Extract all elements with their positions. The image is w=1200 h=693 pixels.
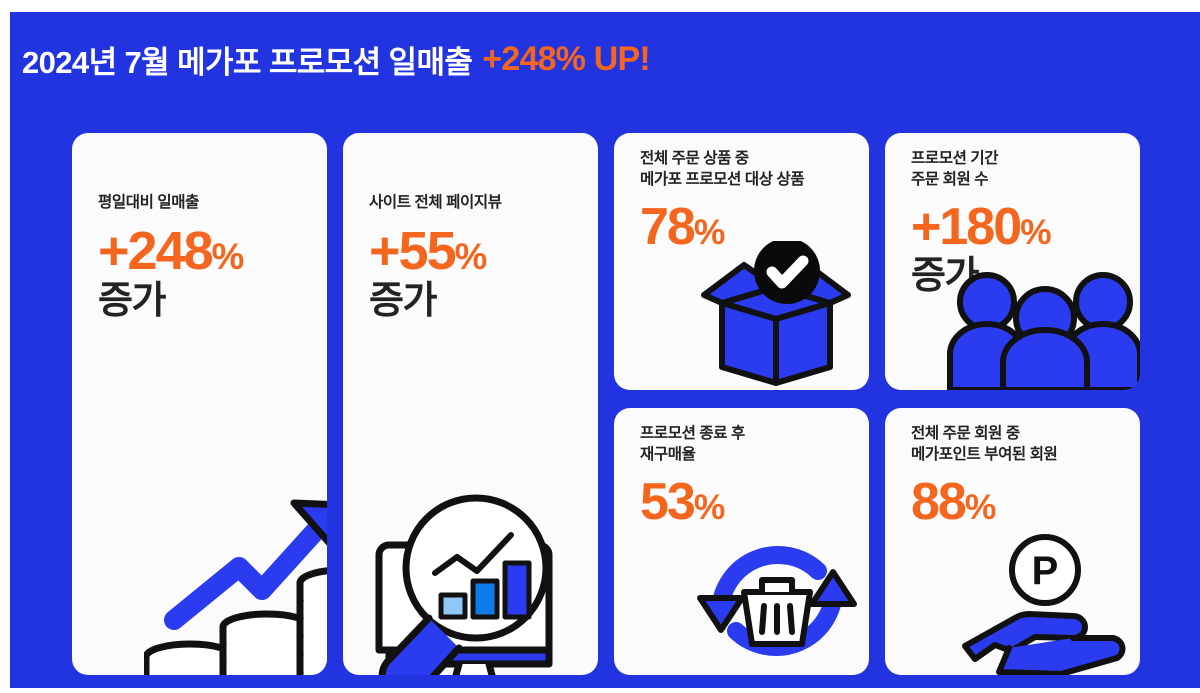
coins-growth-arrow-icon — [144, 485, 327, 675]
percent-symbol: % — [212, 236, 244, 277]
card-value: 88% — [911, 476, 1057, 528]
hand-point-coin-icon: P — [957, 530, 1137, 675]
card-suffix: 증가 — [98, 282, 243, 322]
basket-refresh-icon — [692, 528, 862, 674]
card-text-block: 사이트 전체 페이지뷰 +55% 증가 — [369, 193, 502, 322]
monitor-magnifier-chart-icon — [363, 485, 583, 675]
card-repurchase-rate[interactable]: 프로모션 종료 후 재구매율 53% — [614, 408, 869, 675]
card-caption: 사이트 전체 페이지뷰 — [369, 193, 502, 214]
card-weekday-sales[interactable]: 평일대비 일매출 +248% 증가 — [72, 133, 327, 675]
card-suffix: 증가 — [369, 282, 502, 322]
title-accent-text: +248% UP! — [482, 40, 650, 79]
card-caption: 전체 주문 상품 중 메가포 프로모션 대상 상품 — [640, 149, 804, 191]
card-promo-members[interactable]: 프로모션 기간 주문 회원 수 +180% 증가 — [885, 133, 1140, 390]
infographic-page: 2024년 7월 메가포 프로모션 일매출 +248% UP! 평일대비 일매출… — [0, 0, 1200, 693]
percent-symbol: % — [1020, 213, 1050, 252]
card-value: +55% — [369, 224, 502, 278]
card-text-block: 전체 주문 상품 중 메가포 프로모션 대상 상품 78% — [640, 149, 804, 253]
card-promo-products[interactable]: 전체 주문 상품 중 메가포 프로모션 대상 상품 78% — [614, 133, 869, 390]
card-caption: 평일대비 일매출 — [98, 193, 243, 214]
card-caption: 전체 주문 회원 중 메가포인트 부여된 회원 — [911, 424, 1057, 466]
percent-symbol: % — [455, 236, 487, 277]
card-site-pageview[interactable]: 사이트 전체 페이지뷰 +55% 증가 — [343, 133, 598, 675]
three-people-icon — [945, 266, 1140, 390]
card-caption: 프로모션 기간 주문 회원 수 — [911, 149, 1051, 191]
percent-symbol: % — [965, 488, 995, 527]
card-megapoint-members[interactable]: 전체 주문 회원 중 메가포인트 부여된 회원 88% P — [885, 408, 1140, 675]
percent-symbol: % — [694, 488, 724, 527]
point-coin-letter: P — [1032, 549, 1059, 593]
card-text-block: 평일대비 일매출 +248% 증가 — [98, 193, 243, 322]
title-main-text: 2024년 7월 메가포 프로모션 일매출 — [22, 37, 472, 82]
card-value: +180% — [911, 201, 1051, 253]
page-title: 2024년 7월 메가포 프로모션 일매출 +248% UP! — [22, 28, 1022, 90]
card-value: 53% — [640, 476, 745, 528]
card-text-block: 프로모션 종료 후 재구매율 53% — [640, 424, 745, 528]
card-caption: 프로모션 종료 후 재구매율 — [640, 424, 745, 466]
box-check-icon — [690, 241, 862, 389]
card-value: +248% — [98, 224, 243, 278]
card-text-block: 전체 주문 회원 중 메가포인트 부여된 회원 88% — [911, 424, 1057, 528]
